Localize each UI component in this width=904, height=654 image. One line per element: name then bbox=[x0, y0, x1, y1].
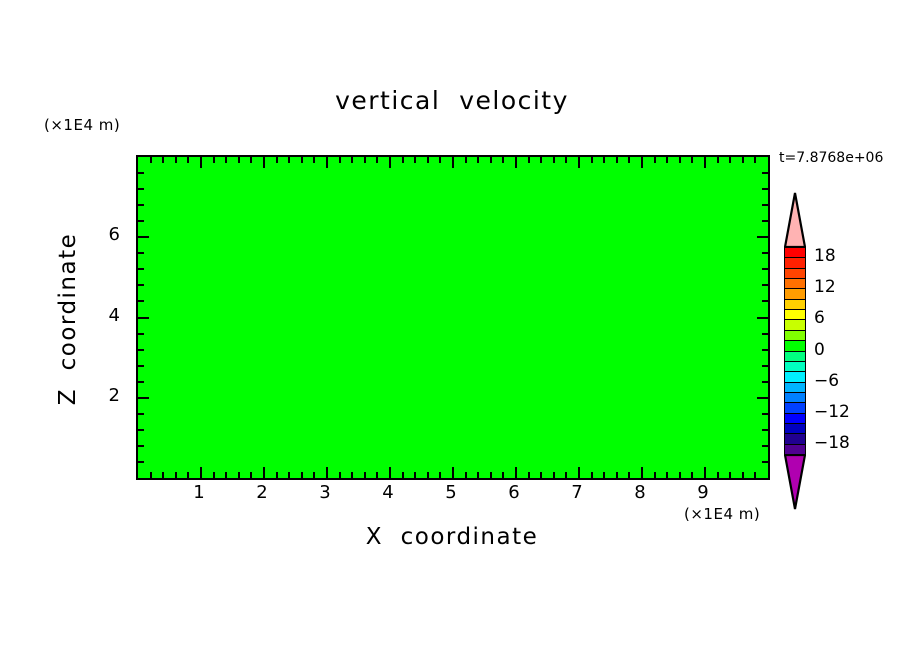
x-axis-minor-tick bbox=[553, 472, 555, 478]
x-axis-top-tick bbox=[402, 157, 404, 163]
time-annotation: t=7.8768e+06 bbox=[779, 150, 883, 166]
x-axis-top-tick bbox=[313, 157, 315, 163]
x-axis-top-tick bbox=[666, 157, 668, 163]
x-axis-top-tick bbox=[477, 157, 479, 163]
colorbar-tick-label: 18 bbox=[814, 246, 836, 266]
x-axis-top-tick bbox=[616, 157, 618, 163]
z-axis-unit-label: (×1E4 m) bbox=[44, 116, 120, 134]
x-axis-minor-tick bbox=[477, 472, 479, 478]
z-axis-minor-tick bbox=[138, 445, 144, 447]
z-axis-minor-tick bbox=[138, 300, 144, 302]
x-axis-top-tick bbox=[704, 157, 706, 168]
colorbar bbox=[784, 247, 806, 454]
x-axis-top-tick bbox=[225, 157, 227, 163]
x-axis-minor-tick bbox=[754, 472, 756, 478]
x-axis-tick-label: 2 bbox=[242, 482, 282, 503]
x-axis-top-tick bbox=[628, 157, 630, 163]
x-axis-minor-tick bbox=[717, 472, 719, 478]
x-axis-minor-tick bbox=[414, 472, 416, 478]
z-axis-right-tick bbox=[762, 445, 768, 447]
z-axis-minor-tick bbox=[138, 220, 144, 222]
z-axis-minor-tick bbox=[138, 268, 144, 270]
z-axis-major-tick bbox=[138, 317, 149, 319]
x-axis-major-tick bbox=[389, 467, 391, 478]
x-axis-top-tick bbox=[439, 157, 441, 163]
z-axis-minor-tick bbox=[138, 365, 144, 367]
x-axis-minor-tick bbox=[364, 472, 366, 478]
x-axis-minor-tick bbox=[666, 472, 668, 478]
x-axis-top-tick bbox=[742, 157, 744, 163]
x-axis-major-tick bbox=[263, 467, 265, 478]
x-axis-tick-label: 4 bbox=[368, 482, 408, 503]
x-axis-major-tick bbox=[515, 467, 517, 478]
x-axis-top-tick bbox=[502, 157, 504, 163]
z-axis-right-tick bbox=[757, 317, 768, 319]
x-axis-top-tick bbox=[276, 157, 278, 163]
x-axis-tick-label: 9 bbox=[683, 482, 723, 503]
x-axis-major-tick bbox=[704, 467, 706, 478]
z-axis-right-tick bbox=[762, 349, 768, 351]
x-axis-tick-label: 6 bbox=[494, 482, 534, 503]
x-axis-top-tick bbox=[528, 157, 530, 163]
z-axis-right-tick bbox=[762, 172, 768, 174]
colorbar-over-range-cap bbox=[784, 192, 806, 252]
x-axis-minor-tick bbox=[187, 472, 189, 478]
x-axis-minor-tick bbox=[250, 472, 252, 478]
x-axis-top-tick bbox=[150, 157, 152, 163]
x-axis-minor-tick bbox=[628, 472, 630, 478]
z-axis-major-tick bbox=[138, 397, 149, 399]
x-axis-minor-tick bbox=[313, 472, 315, 478]
x-axis-top-tick bbox=[213, 157, 215, 163]
x-axis-top-tick bbox=[515, 157, 517, 168]
x-axis-minor-tick bbox=[439, 472, 441, 478]
x-axis-top-tick bbox=[414, 157, 416, 163]
z-axis-minor-tick bbox=[138, 252, 144, 254]
x-axis-minor-tick bbox=[528, 472, 530, 478]
z-axis-right-tick bbox=[762, 204, 768, 206]
z-axis-minor-tick bbox=[138, 333, 144, 335]
x-axis-tick-label: 1 bbox=[179, 482, 219, 503]
x-axis-top-tick bbox=[679, 157, 681, 163]
contour-plot-area bbox=[136, 155, 770, 480]
x-axis-minor-tick bbox=[162, 472, 164, 478]
x-axis-minor-tick bbox=[276, 472, 278, 478]
z-axis-right-tick bbox=[762, 413, 768, 415]
z-axis-minor-tick bbox=[138, 381, 144, 383]
x-axis-tick-label: 8 bbox=[620, 482, 660, 503]
x-axis-minor-tick bbox=[402, 472, 404, 478]
x-axis-top-tick bbox=[339, 157, 341, 163]
z-axis-right-tick bbox=[762, 300, 768, 302]
chart-title: vertical velocity bbox=[0, 86, 904, 115]
z-axis-minor-tick bbox=[138, 172, 144, 174]
x-axis-major-tick bbox=[200, 467, 202, 478]
x-axis-tick-label: 5 bbox=[431, 482, 471, 503]
x-axis-title: X coordinate bbox=[0, 524, 904, 550]
x-axis-top-tick bbox=[754, 157, 756, 163]
x-axis-top-tick bbox=[288, 157, 290, 163]
colorbar-tick-label: −12 bbox=[814, 402, 850, 422]
x-axis-minor-tick bbox=[351, 472, 353, 478]
z-axis-minor-tick bbox=[138, 429, 144, 431]
x-axis-top-tick bbox=[553, 157, 555, 163]
chart-canvas: vertical velocity (×1E4 m) (×1E4 m) t=7.… bbox=[0, 0, 904, 654]
x-axis-unit-label: (×1E4 m) bbox=[684, 505, 760, 523]
colorbar-under-range-cap bbox=[784, 454, 806, 514]
x-axis-major-tick bbox=[641, 467, 643, 478]
x-axis-minor-tick bbox=[654, 472, 656, 478]
x-axis-top-tick bbox=[162, 157, 164, 163]
z-axis-minor-tick bbox=[138, 461, 144, 463]
z-axis-tick-label: 6 bbox=[96, 224, 120, 245]
x-axis-minor-tick bbox=[339, 472, 341, 478]
x-axis-minor-tick bbox=[288, 472, 290, 478]
x-axis-minor-tick bbox=[238, 472, 240, 478]
x-axis-minor-tick bbox=[729, 472, 731, 478]
z-axis-right-tick bbox=[762, 220, 768, 222]
x-axis-major-tick bbox=[578, 467, 580, 478]
z-axis-minor-tick bbox=[138, 204, 144, 206]
x-axis-minor-tick bbox=[691, 472, 693, 478]
z-axis-title: Z coordinate bbox=[55, 224, 81, 414]
x-axis-top-tick bbox=[603, 157, 605, 163]
x-axis-tick-label: 7 bbox=[557, 482, 597, 503]
x-axis-top-tick bbox=[301, 157, 303, 163]
x-axis-minor-tick bbox=[679, 472, 681, 478]
x-axis-top-tick bbox=[565, 157, 567, 163]
x-axis-top-tick bbox=[250, 157, 252, 163]
x-axis-minor-tick bbox=[742, 472, 744, 478]
x-axis-minor-tick bbox=[603, 472, 605, 478]
x-axis-top-tick bbox=[591, 157, 593, 163]
x-axis-minor-tick bbox=[150, 472, 152, 478]
x-axis-top-tick bbox=[263, 157, 265, 168]
x-axis-minor-tick bbox=[301, 472, 303, 478]
x-axis-minor-tick bbox=[540, 472, 542, 478]
colorbar-tick-label: 0 bbox=[814, 340, 825, 360]
colorbar-tick-label: 6 bbox=[814, 308, 825, 328]
z-axis-minor-tick bbox=[138, 349, 144, 351]
z-axis-right-tick bbox=[762, 333, 768, 335]
x-axis-major-tick bbox=[326, 467, 328, 478]
z-axis-right-tick bbox=[762, 381, 768, 383]
z-axis-right-tick bbox=[762, 284, 768, 286]
x-axis-minor-tick bbox=[490, 472, 492, 478]
x-axis-minor-tick bbox=[591, 472, 593, 478]
x-axis-top-tick bbox=[326, 157, 328, 168]
x-axis-top-tick bbox=[376, 157, 378, 163]
z-axis-right-tick bbox=[762, 188, 768, 190]
z-axis-right-tick bbox=[762, 365, 768, 367]
x-axis-top-tick bbox=[364, 157, 366, 163]
x-axis-top-tick bbox=[691, 157, 693, 163]
x-axis-top-tick bbox=[351, 157, 353, 163]
z-axis-right-tick bbox=[762, 268, 768, 270]
x-axis-top-tick bbox=[490, 157, 492, 163]
x-axis-minor-tick bbox=[213, 472, 215, 478]
colorbar-tick-label: −18 bbox=[814, 433, 850, 453]
x-axis-top-tick bbox=[427, 157, 429, 163]
x-axis-minor-tick bbox=[502, 472, 504, 478]
x-axis-top-tick bbox=[540, 157, 542, 163]
x-axis-top-tick bbox=[578, 157, 580, 168]
x-axis-top-tick bbox=[654, 157, 656, 163]
x-axis-top-tick bbox=[238, 157, 240, 163]
z-axis-right-tick bbox=[757, 236, 768, 238]
vertical-velocity-contour-field bbox=[138, 157, 768, 478]
x-axis-minor-tick bbox=[565, 472, 567, 478]
z-axis-right-tick bbox=[762, 252, 768, 254]
x-axis-top-tick bbox=[729, 157, 731, 163]
colorbar-tick-label: −6 bbox=[814, 371, 839, 391]
x-axis-top-tick bbox=[717, 157, 719, 163]
z-axis-right-tick bbox=[762, 461, 768, 463]
x-axis-top-tick bbox=[389, 157, 391, 168]
x-axis-top-tick bbox=[175, 157, 177, 163]
z-axis-right-tick bbox=[762, 429, 768, 431]
x-axis-minor-tick bbox=[616, 472, 618, 478]
z-axis-right-tick bbox=[757, 397, 768, 399]
z-axis-minor-tick bbox=[138, 284, 144, 286]
z-axis-major-tick bbox=[138, 236, 149, 238]
x-axis-top-tick bbox=[452, 157, 454, 168]
z-axis-minor-tick bbox=[138, 188, 144, 190]
z-axis-tick-label: 2 bbox=[96, 385, 120, 406]
z-axis-minor-tick bbox=[138, 413, 144, 415]
x-axis-top-tick bbox=[187, 157, 189, 163]
x-axis-minor-tick bbox=[465, 472, 467, 478]
x-axis-top-tick bbox=[641, 157, 643, 168]
x-axis-top-tick bbox=[200, 157, 202, 168]
x-axis-major-tick bbox=[452, 467, 454, 478]
x-axis-minor-tick bbox=[427, 472, 429, 478]
x-axis-minor-tick bbox=[376, 472, 378, 478]
z-axis-tick-label: 4 bbox=[96, 305, 120, 326]
colorbar-tick-label: 12 bbox=[814, 277, 836, 297]
x-axis-top-tick bbox=[465, 157, 467, 163]
x-axis-minor-tick bbox=[225, 472, 227, 478]
x-axis-tick-label: 3 bbox=[305, 482, 345, 503]
x-axis-minor-tick bbox=[175, 472, 177, 478]
